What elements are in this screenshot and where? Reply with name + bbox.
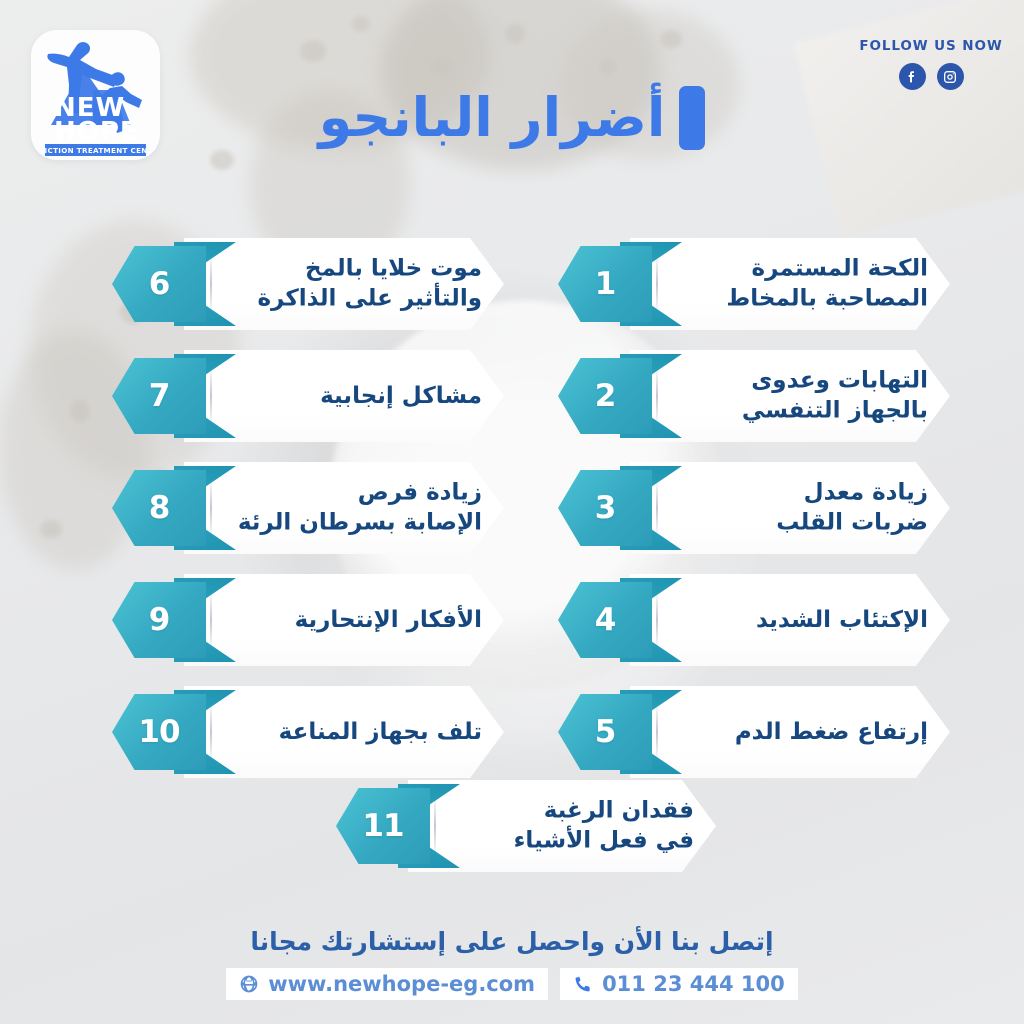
phone-icon: [573, 974, 593, 994]
list-item[interactable]: الكحة المستمرة المصاحبة بالمخاط 1: [558, 238, 950, 330]
list-item[interactable]: موت خلايا بالمخ والتأثير على الذاكرة 6: [112, 238, 504, 330]
item-badge: 5: [558, 690, 682, 774]
item-number: 9: [112, 578, 206, 662]
website-pill[interactable]: www.newhope-eg.com: [226, 968, 548, 1000]
item-number: 7: [112, 354, 206, 438]
item-number: 2: [558, 354, 652, 438]
follow-us-label: FOLLOW US NOW: [856, 38, 1006, 54]
follow-us-block: FOLLOW US NOW: [856, 38, 1006, 90]
item-badge: 8: [112, 466, 236, 550]
list-item[interactable]: مشاكل إنجابية 7: [112, 350, 504, 442]
item-badge: 9: [112, 578, 236, 662]
item-number: 8: [112, 466, 206, 550]
item-number: 5: [558, 690, 652, 774]
item-badge: 10: [112, 690, 236, 774]
item-number: 11: [336, 784, 430, 868]
item-badge: 6: [112, 242, 236, 326]
list-item[interactable]: تلف بجهاز المناعة 10: [112, 686, 504, 778]
title-accent-bar: [679, 86, 705, 150]
website-text: www.newhope-eg.com: [268, 972, 535, 996]
footer-cta-text: إتصل بنا الأن واحصل على إستشارتك مجانا: [0, 927, 1024, 956]
list-item[interactable]: زيادة فرص الإصابة بسرطان الرئة 8: [112, 462, 504, 554]
list-item[interactable]: الأفكار الإنتحارية 9: [112, 574, 504, 666]
list-item[interactable]: زيادة معدل ضربات القلب 3: [558, 462, 950, 554]
phone-pill[interactable]: 011 23 444 100: [560, 968, 798, 1000]
items-column-left: موت خلايا بالمخ والتأثير على الذاكرة 6 م…: [112, 238, 504, 798]
title-text: أضرار البانجو: [319, 91, 666, 145]
item-badge: 11: [336, 784, 460, 868]
footer-contact-row: www.newhope-eg.com 011 23 444 100: [0, 968, 1024, 1000]
phone-text: 011 23 444 100: [602, 972, 785, 996]
list-item[interactable]: التهابات وعدوى بالجهاز التنفسي 2: [558, 350, 950, 442]
page-title: أضرار البانجو: [0, 86, 1024, 150]
item-badge: 7: [112, 354, 236, 438]
item-number: 3: [558, 466, 652, 550]
items-column-right: الكحة المستمرة المصاحبة بالمخاط 1 التهاب…: [558, 238, 950, 798]
infographic-poster: NEW HOPE ADDICTION TREATMENT CENTER FOLL…: [0, 0, 1024, 1024]
globe-icon: [239, 974, 259, 994]
item-badge: 3: [558, 466, 682, 550]
list-item[interactable]: الإكتئاب الشديد 4: [558, 574, 950, 666]
item-badge: 2: [558, 354, 682, 438]
item-badge: 1: [558, 242, 682, 326]
item-number: 6: [112, 242, 206, 326]
list-item[interactable]: إرتفاع ضغط الدم 5: [558, 686, 950, 778]
footer: إتصل بنا الأن واحصل على إستشارتك مجانا w…: [0, 927, 1024, 1000]
item-number: 10: [112, 690, 206, 774]
list-item[interactable]: فقدان الرغبة في فعل الأشياء 11: [336, 780, 716, 872]
item-number: 4: [558, 578, 652, 662]
item-badge: 4: [558, 578, 682, 662]
item-number: 1: [558, 242, 652, 326]
